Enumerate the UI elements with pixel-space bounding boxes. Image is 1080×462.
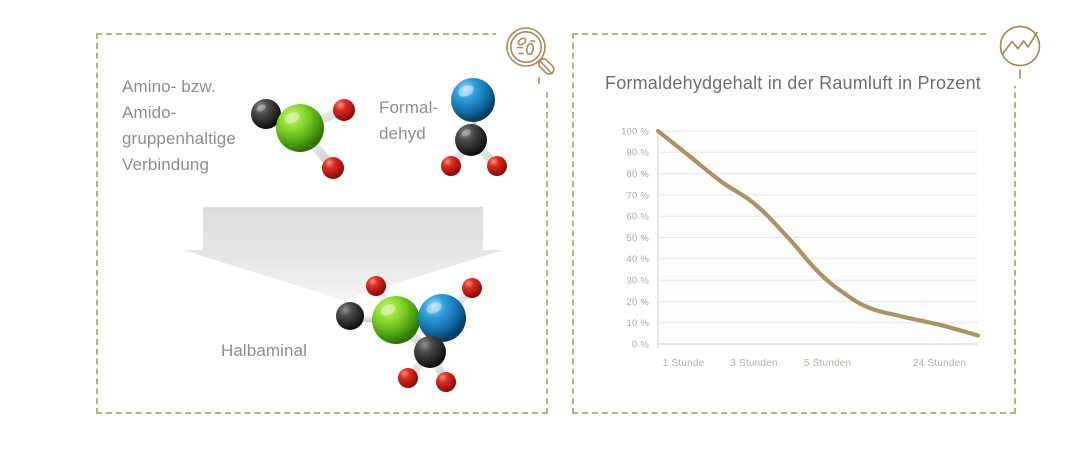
chart-title: Formaldehydgehalt in der Raumluft in Pro… <box>605 73 981 94</box>
y-axis-tick-label: 80 % <box>627 169 650 180</box>
magnifier-germs-icon <box>496 18 568 90</box>
x-axis-tick-label: 1 Stunde <box>663 358 705 369</box>
y-axis-tick-label: 0 % <box>632 339 649 350</box>
y-axis-tick-label: 50 % <box>627 233 650 244</box>
x-axis-tick-label: 3 Stunden <box>730 358 777 369</box>
line-chart: 100 %90 %80 %70 %60 %50 %40 %30 %20 %10 … <box>600 120 1000 375</box>
y-axis-tick-label: 20 % <box>627 297 650 308</box>
y-axis-tick-label: 100 % <box>621 126 649 137</box>
y-axis-tick-label: 40 % <box>627 254 650 265</box>
screenshot-root: Amino- bzw. Amido- gruppenhaltige Verbin… <box>0 0 1080 462</box>
x-axis-tick-label: 5 Stunden <box>804 358 851 369</box>
trend-chart-circle-icon <box>986 14 1058 86</box>
halbaminal-molecule <box>330 272 502 400</box>
amino-compound-molecule <box>232 78 362 190</box>
y-axis-tick-label: 70 % <box>627 190 650 201</box>
y-axis-tick-label: 90 % <box>627 148 650 159</box>
y-axis-tick-label: 60 % <box>627 212 650 223</box>
x-axis-tick-label: 24 Stunden <box>913 358 966 369</box>
chart-svg: 100 %90 %80 %70 %60 %50 %40 %30 %20 %10 … <box>600 120 1000 375</box>
y-axis-tick-label: 30 % <box>627 276 650 287</box>
y-axis-tick-label: 10 % <box>627 318 650 329</box>
